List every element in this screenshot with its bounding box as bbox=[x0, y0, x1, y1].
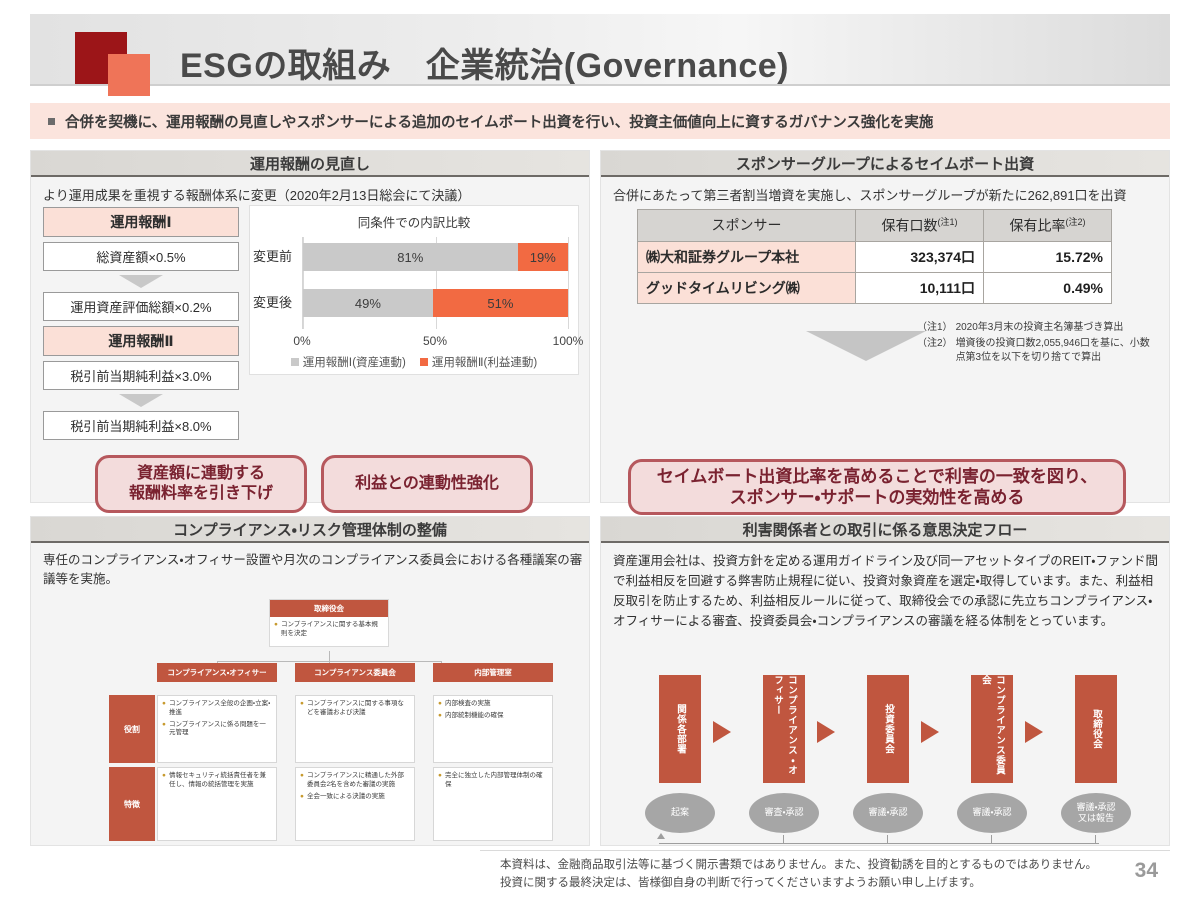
page-title: ESGの取組み 企業統治(Governance) bbox=[180, 38, 789, 87]
down-arrow-icon bbox=[806, 331, 926, 361]
col-header-sponsor: スポンサー bbox=[638, 210, 856, 242]
chart-xtick: 50% bbox=[423, 334, 447, 348]
flow-action-0: 起案 bbox=[645, 793, 715, 833]
breakdown-comparison-chart: 同条件での内訳比較 変更前81%19%変更後49%51% 0%50%100% 運… bbox=[249, 205, 579, 375]
page-number: 34 bbox=[1135, 859, 1158, 883]
legend-label-0: 運用報酬Ⅰ(資産連動) bbox=[303, 354, 406, 370]
chart-xtick: 0% bbox=[293, 334, 310, 348]
flow-action-3: 審議・承認 bbox=[957, 793, 1027, 833]
callout-fee-rate-reduction: 資産額に連動する報酬料率を引き下げ bbox=[95, 455, 307, 513]
fee-step-3: 運用報酬Ⅱ bbox=[43, 326, 239, 356]
flow-action-label: 審査・承認 bbox=[764, 807, 803, 818]
legend-label-1: 運用報酬Ⅱ(利益連動) bbox=[432, 354, 537, 370]
flow-action-label: 審議・承認又は報告 bbox=[1076, 802, 1115, 825]
panel-compliance-risk-management: コンプライアンス・リスク管理体制の整備 専任のコンプライアンス・オフィサー設置や… bbox=[30, 516, 590, 846]
flow-node-2: 投資委員会 bbox=[867, 675, 909, 783]
callout-text: セイムボート出資比率を高めることで利害の一致を図り、スポンサー・サポートの実効性… bbox=[657, 466, 1097, 509]
cell-ratio-0: 15.72% bbox=[984, 241, 1112, 272]
cell-units-0: 323,374口 bbox=[856, 241, 984, 272]
down-arrow-icon bbox=[119, 275, 163, 288]
flow-node-label: 取締役会 bbox=[1089, 709, 1103, 749]
flow-node-1: コンプライアンス・オフィサー bbox=[763, 675, 805, 783]
bullet-dot-icon: ● bbox=[438, 712, 442, 721]
right-arrow-icon bbox=[1025, 721, 1043, 743]
panel-sponsor-coinvestment: スポンサーグループによるセイムボート出資 合併にあたって第三者割当増資を実施し、… bbox=[600, 150, 1170, 503]
org-node-title: 取締役会 bbox=[270, 600, 388, 617]
org-bullet-text: コンプライアンスに係る問題を一元管理 bbox=[169, 721, 272, 739]
callout-text: 資産額に連動する報酬料率を引き下げ bbox=[129, 464, 273, 504]
callout-profit-linkage: 利益との連動性強化 bbox=[321, 455, 533, 513]
bullet-dot-icon: ● bbox=[438, 772, 442, 790]
chart-xtick: 100% bbox=[553, 334, 584, 348]
org-cell-body: ●コンプライアンスに精通した外部委員会2名を含めた審議の実施●全会一致による決議… bbox=[296, 768, 414, 808]
chart-bar-segment: 51% bbox=[433, 289, 568, 317]
chart-title: 同条件での内訳比較 bbox=[250, 206, 578, 231]
chart-x-axis-ticks: 0%50%100% bbox=[302, 334, 568, 350]
col-header-ratio: 保有比率(注2) bbox=[984, 210, 1112, 242]
bullet-dot-icon: ● bbox=[438, 700, 442, 709]
fee-step-4: 税引前当期純利益×3.0% bbox=[43, 361, 239, 390]
flow-feedback-tick bbox=[783, 835, 784, 843]
flow-feedback-tick bbox=[991, 835, 992, 843]
org-bullet-text: 全会一致による決議の実施 bbox=[307, 793, 385, 802]
org-cell-0-1: ●コンプライアンスに関する事項などを審議および決議 bbox=[295, 695, 415, 763]
chart-bar-label: 変更前 bbox=[253, 243, 299, 271]
org-bullet-text: 内部検査の実施 bbox=[445, 700, 491, 709]
bullet-dot-icon: ● bbox=[162, 772, 166, 790]
footnote-tag: （注2） bbox=[917, 337, 953, 366]
fee-note: より運用成果を重視する報酬体系に変更（2020年2月13日総会にて決議） bbox=[43, 185, 470, 204]
flow-node-label: コンプライアンス・オフィサー bbox=[770, 675, 798, 783]
flow-node-4: 取締役会 bbox=[1075, 675, 1117, 783]
org-bullet: ●コンプライアンスに係る問題を一元管理 bbox=[162, 721, 272, 739]
footnote-tag: （注1） bbox=[917, 321, 953, 336]
fee-step-1: 総資産額×0.5% bbox=[43, 242, 239, 271]
org-bullet: ●内部統制機能の確保 bbox=[438, 712, 548, 721]
compliance-org-chart: 取締役会 ●コンプライアンスに関する基本規則を決定 コンプライアンス・オフィサー… bbox=[47, 599, 575, 855]
flow-action-4: 審議・承認又は報告 bbox=[1061, 793, 1131, 833]
org-bullet: ●コンプライアンスに関する基本規則を決定 bbox=[274, 621, 384, 639]
fee-step-2: 運用資産評価総額×0.2% bbox=[43, 292, 239, 321]
panel-title-compliance: コンプライアンス・リスク管理体制の整備 bbox=[31, 517, 589, 543]
panel-management-fee-revision: 運用報酬の見直し より運用成果を重視する報酬体系に変更（2020年2月13日総会… bbox=[30, 150, 590, 503]
chart-bar-label: 変更後 bbox=[253, 289, 299, 317]
flow-feedback-line bbox=[659, 843, 1099, 844]
org-bullet-text: 完全に独立した内部管理体制の確保 bbox=[445, 772, 548, 790]
chart-bar-segment: 81% bbox=[303, 243, 518, 271]
org-bullet: ●内部検査の実施 bbox=[438, 700, 548, 709]
right-arrow-icon bbox=[921, 721, 939, 743]
footnote-text: 2020年3月末の投資主名簿基づき算出 bbox=[956, 321, 1124, 336]
slide-footer: 本資料は、金融商品取引法等に基づく開示書類ではありません。また、投資勧誘を目的と… bbox=[480, 850, 1170, 894]
flow-description: 資産運用会社は、投資方針を定める運用ガイドライン及び同一アセットタイプのREIT… bbox=[613, 551, 1159, 631]
panel-title-fees: 運用報酬の見直し bbox=[31, 151, 589, 177]
chart-bar-segment: 19% bbox=[518, 243, 568, 271]
org-cell-body: ●情報セキュリティ統括責任者を兼任し、情報の統括管理を実施 bbox=[158, 768, 276, 797]
org-cell-1-0: ●情報セキュリティ統括責任者を兼任し、情報の統括管理を実施 bbox=[157, 767, 277, 841]
chart-bar-0: 変更前81%19% bbox=[303, 243, 568, 271]
flow-action-label: 審議・承認 bbox=[868, 807, 907, 818]
decision-flow-diagram: 関係各部署 起案 コンプライアンス・オフィサー 審査・承認 投資委員会 審議・承… bbox=[611, 675, 1161, 860]
flow-action-label: 起案 bbox=[671, 807, 689, 818]
org-cell-0-0: ●コンプライアンス全般の企画・立案・推進●コンプライアンスに係る問題を一元管理 bbox=[157, 695, 277, 763]
fee-structure-flow: 運用報酬Ⅰ 総資産額×0.5% 運用資産評価総額×0.2% 運用報酬Ⅱ 税引前当… bbox=[43, 207, 239, 440]
chart-legend: 運用報酬Ⅰ(資産連動) 運用報酬Ⅱ(利益連動) bbox=[250, 354, 578, 370]
table-header-row: スポンサー 保有口数(注1) 保有比率(注2) bbox=[638, 210, 1112, 242]
down-arrow-icon bbox=[119, 394, 163, 407]
coinvestment-note: 合併にあたって第三者割当増資を実施し、スポンサーグループが新たに262,891口… bbox=[613, 185, 1127, 204]
cell-ratio-1: 0.49% bbox=[984, 272, 1112, 303]
flow-feedback-arrow-icon bbox=[657, 833, 665, 839]
bullet-dot-icon: ● bbox=[162, 721, 166, 739]
bullet-dot-icon: ● bbox=[300, 772, 304, 790]
org-cell-body: ●完全に独立した内部管理体制の確保 bbox=[434, 768, 552, 797]
org-bullet-text: コンプライアンスに関する事項などを審議および決議 bbox=[307, 700, 410, 718]
lead-banner: 合併を契機に、運用報酬の見直しやスポンサーによる追加のセイムボート出資を行い、投… bbox=[30, 103, 1170, 139]
org-bullet: ●情報セキュリティ統括責任者を兼任し、情報の統括管理を実施 bbox=[162, 772, 272, 790]
bullet-dot-icon: ● bbox=[162, 700, 166, 718]
footnotes-list: （注1） 2020年3月末の投資主名簿基づき算出 （注2） 増資後の投資口数2,… bbox=[917, 321, 1155, 367]
org-node-board: 取締役会 ●コンプライアンスに関する基本規則を決定 bbox=[269, 599, 389, 647]
chart-bar-segment: 49% bbox=[303, 289, 433, 317]
org-bullet: ●コンプライアンスに精通した外部委員会2名を含めた審議の実施 bbox=[300, 772, 410, 790]
org-column-header-0: コンプライアンス・オフィサー bbox=[157, 663, 277, 682]
disclaimer-line-2: 投資に関する最終決定は、皆様御自身の判断で行ってくださいますようお願い申し上げま… bbox=[500, 875, 1097, 893]
compliance-description: 専任のコンプライアンス・オフィサー設置や月次のコンプライアンス委員会における各種… bbox=[43, 551, 583, 589]
org-bullet-text: コンプライアンスに精通した外部委員会2名を含めた審議の実施 bbox=[307, 772, 410, 790]
org-bullet: ●コンプライアンス全般の企画・立案・推進 bbox=[162, 700, 272, 718]
slide-header: ESGの取組み 企業統治(Governance) bbox=[30, 14, 1170, 86]
chart-bar-1: 変更後49%51% bbox=[303, 289, 568, 317]
slide: ESGの取組み 企業統治(Governance) 合併を契機に、運用報酬の見直し… bbox=[0, 0, 1200, 900]
org-cell-0-2: ●内部検査の実施●内部統制機能の確保 bbox=[433, 695, 553, 763]
org-cell-1-2: ●完全に独立した内部管理体制の確保 bbox=[433, 767, 553, 841]
panel-title-flow: 利害関係者との取引に係る意思決定フロー bbox=[601, 517, 1169, 543]
org-node-body: ●コンプライアンスに関する基本規則を決定 bbox=[270, 617, 388, 646]
fee-step-0: 運用報酬Ⅰ bbox=[43, 207, 239, 237]
org-bullet-text: コンプライアンスに関する基本規則を決定 bbox=[281, 621, 384, 639]
bullet-dot-icon: ● bbox=[300, 793, 304, 802]
right-arrow-icon bbox=[817, 721, 835, 743]
flow-action-label: 審議・承認 bbox=[972, 807, 1011, 818]
square-bullet-icon bbox=[48, 118, 55, 125]
col-header-units: 保有口数(注1) bbox=[856, 210, 984, 242]
chart-gridline bbox=[568, 237, 569, 329]
footnote-marker-2: (注2) bbox=[1066, 217, 1086, 227]
flow-node-label: 投資委員会 bbox=[881, 704, 895, 754]
footnote-text: 増資後の投資口数2,055,946口を基に、小数点第3位を以下を切り捨てで算出 bbox=[956, 337, 1155, 366]
callout-text: 利益との連動性強化 bbox=[355, 474, 499, 494]
org-bullet: ●全会一致による決議の実施 bbox=[300, 793, 410, 802]
footnote-item: （注2） 増資後の投資口数2,055,946口を基に、小数点第3位を以下を切り捨… bbox=[917, 337, 1155, 366]
disclaimer-line-1: 本資料は、金融商品取引法等に基づく開示書類ではありません。また、投資勧誘を目的と… bbox=[500, 857, 1097, 875]
org-bullet-text: 情報セキュリティ統括責任者を兼任し、情報の統括管理を実施 bbox=[169, 772, 272, 790]
callout-coinvestment-alignment: セイムボート出資比率を高めることで利害の一致を図り、スポンサー・サポートの実効性… bbox=[628, 459, 1126, 515]
table-row: ㈱大和証券グループ本社 323,374口 15.72% bbox=[638, 241, 1112, 272]
org-column-header-1: コンプライアンス委員会 bbox=[295, 663, 415, 682]
org-connector bbox=[329, 651, 330, 661]
org-row-label-0: 役割 bbox=[109, 695, 155, 763]
bullet-dot-icon: ● bbox=[300, 700, 304, 718]
org-cell-1-1: ●コンプライアンスに精通した外部委員会2名を含めた審議の実施●全会一致による決議… bbox=[295, 767, 415, 841]
panel-related-party-decision-flow: 利害関係者との取引に係る意思決定フロー 資産運用会社は、投資方針を定める運用ガイ… bbox=[600, 516, 1170, 846]
footnote-item: （注1） 2020年3月末の投資主名簿基づき算出 bbox=[917, 321, 1155, 336]
chart-plot-area: 変更前81%19%変更後49%51% bbox=[302, 237, 568, 329]
org-bullet: ●完全に独立した内部管理体制の確保 bbox=[438, 772, 548, 790]
flow-feedback-tick bbox=[1095, 835, 1096, 843]
cell-sponsor-0: ㈱大和証券グループ本社 bbox=[638, 241, 856, 272]
flow-node-label: コンプライアンス委員会 bbox=[978, 675, 1006, 783]
table-row: グッドタイムリビング㈱ 10,111口 0.49% bbox=[638, 272, 1112, 303]
legend-swatch-icon bbox=[291, 358, 299, 366]
right-arrow-icon bbox=[713, 721, 731, 743]
cell-units-1: 10,111口 bbox=[856, 272, 984, 303]
org-cell-body: ●コンプライアンスに関する事項などを審議および決議 bbox=[296, 696, 414, 725]
org-bullet-text: コンプライアンス全般の企画・立案・推進 bbox=[169, 700, 272, 718]
flow-feedback-tick bbox=[887, 835, 888, 843]
org-row-label-1: 特徴 bbox=[109, 767, 155, 841]
org-cell-body: ●コンプライアンス全般の企画・立案・推進●コンプライアンスに係る問題を一元管理 bbox=[158, 696, 276, 745]
lead-text: 合併を契機に、運用報酬の見直しやスポンサーによる追加のセイムボート出資を行い、投… bbox=[65, 111, 933, 132]
legend-item-series-1: 運用報酬Ⅱ(利益連動) bbox=[420, 354, 537, 370]
org-bullet-text: 内部統制機能の確保 bbox=[445, 712, 504, 721]
flow-action-1: 審査・承認 bbox=[749, 793, 819, 833]
logo-light-block-icon bbox=[108, 54, 150, 96]
flow-node-label: 関係各部署 bbox=[673, 704, 687, 754]
bullet-dot-icon: ● bbox=[274, 621, 278, 639]
legend-item-series-0: 運用報酬Ⅰ(資産連動) bbox=[291, 354, 406, 370]
disclaimer-text: 本資料は、金融商品取引法等に基づく開示書類ではありません。また、投資勧誘を目的と… bbox=[500, 857, 1097, 893]
flow-node-0: 関係各部署 bbox=[659, 675, 701, 783]
flow-node-3: コンプライアンス委員会 bbox=[971, 675, 1013, 783]
org-cell-body: ●内部検査の実施●内部統制機能の確保 bbox=[434, 696, 552, 728]
footnote-marker-1: (注1) bbox=[938, 217, 958, 227]
sponsor-holdings-table: スポンサー 保有口数(注1) 保有比率(注2) ㈱大和証券グループ本社 323,… bbox=[637, 209, 1112, 304]
flow-action-2: 審議・承認 bbox=[853, 793, 923, 833]
fee-step-5: 税引前当期純利益×8.0% bbox=[43, 411, 239, 440]
panel-title-coinvestment: スポンサーグループによるセイムボート出資 bbox=[601, 151, 1169, 177]
legend-swatch-icon bbox=[420, 358, 428, 366]
cell-sponsor-1: グッドタイムリビング㈱ bbox=[638, 272, 856, 303]
org-column-header-2: 内部管理室 bbox=[433, 663, 553, 682]
org-bullet: ●コンプライアンスに関する事項などを審議および決議 bbox=[300, 700, 410, 718]
